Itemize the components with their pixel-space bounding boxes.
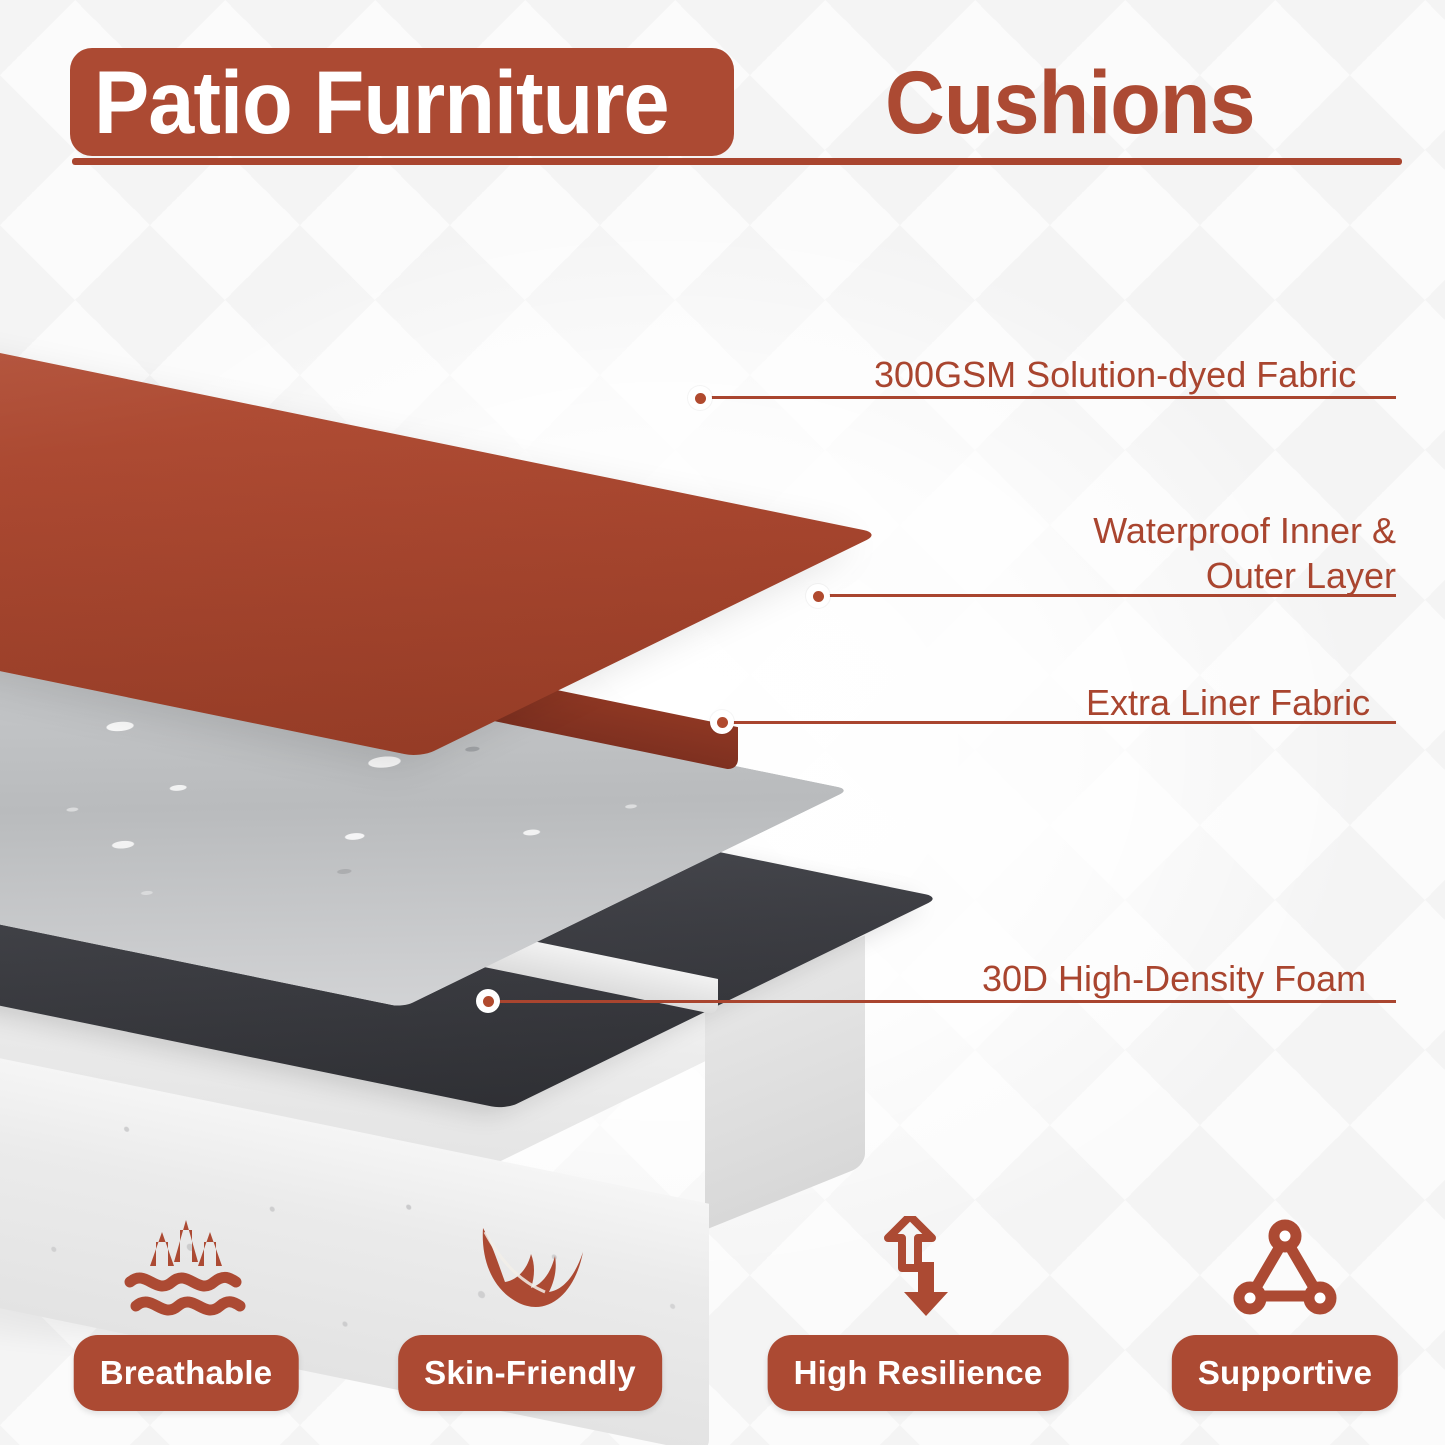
feature-pill-skin-friendly[interactable]: Skin-Friendly [398, 1335, 662, 1411]
feature-label-breathable: Breathable [100, 1354, 273, 1392]
up-down-arrows-icon [768, 1215, 1068, 1325]
callout-label-liner: Extra Liner Fabric [1086, 680, 1416, 725]
arrows-up-waves-icon [36, 1215, 336, 1325]
feature-high-resilience[interactable]: High Resilience [768, 1215, 1068, 1445]
feature-label-high-resilience: High Resilience [794, 1354, 1043, 1392]
title-plain-text: Cushions [885, 58, 1255, 147]
feature-supportive[interactable]: Supportive [1135, 1215, 1435, 1445]
feature-skin-friendly[interactable]: Skin-Friendly [380, 1215, 680, 1445]
title-underline-rule [72, 158, 1402, 165]
layer-fabric-sheen [0, 310, 880, 757]
exploded-product-stack [0, 250, 980, 1200]
triangle-nodes-icon [1135, 1215, 1435, 1325]
callout-dot-liner [710, 710, 734, 734]
feather-icon [380, 1215, 680, 1325]
title-highlight-badge: Patio Furniture [70, 48, 734, 156]
infographic-root: Patio Furniture Cushions 300GSM Solut [0, 0, 1445, 1445]
feature-badge-row: Breathable Skin-Friendly [0, 1215, 1445, 1445]
callout-label-waterproof: Waterproof Inner & Outer Layer [896, 508, 1396, 598]
callout-dot-fabric [688, 386, 712, 410]
feature-breathable[interactable]: Breathable [36, 1215, 336, 1445]
callout-dot-foam [476, 989, 500, 1013]
feature-label-supportive: Supportive [1198, 1354, 1372, 1392]
header: Patio Furniture Cushions [0, 0, 1445, 190]
title-highlight-text: Patio Furniture [94, 58, 669, 147]
feature-pill-breathable[interactable]: Breathable [74, 1335, 299, 1411]
callout-dot-waterproof [806, 584, 830, 608]
feature-label-skin-friendly: Skin-Friendly [424, 1354, 636, 1392]
title-plain-wrap: Cushions [885, 48, 1282, 156]
feature-pill-high-resilience[interactable]: High Resilience [768, 1335, 1069, 1411]
feature-pill-supportive[interactable]: Supportive [1172, 1335, 1398, 1411]
callout-label-fabric: 300GSM Solution-dyed Fabric [874, 352, 1394, 397]
callout-label-foam: 30D High-Density Foam [982, 956, 1412, 1001]
